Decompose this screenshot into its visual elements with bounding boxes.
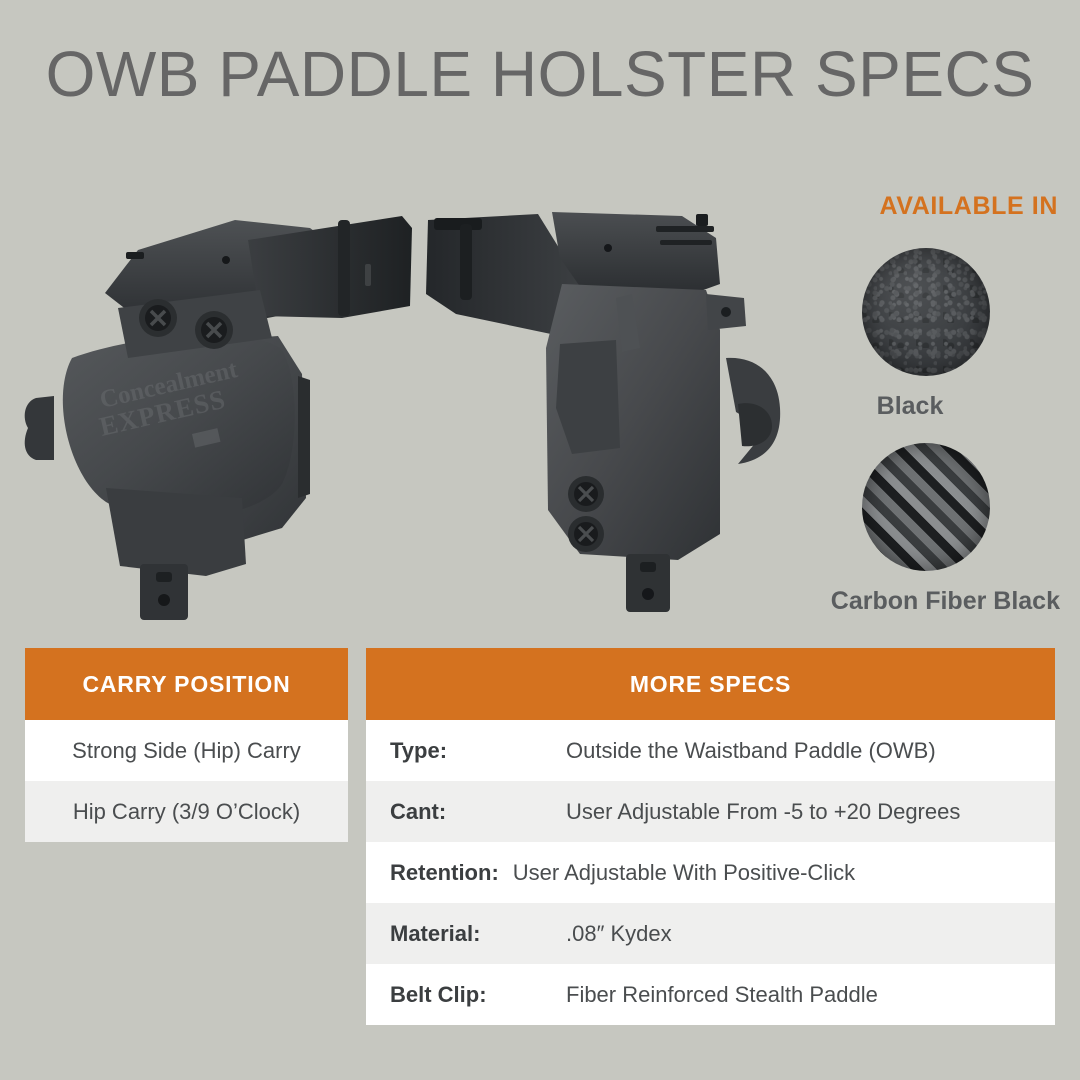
carry-position-value: Hip Carry (3/9 O’Clock)	[73, 799, 300, 825]
grip-backstrap	[460, 224, 472, 300]
carry-position-value: Strong Side (Hip) Carry	[72, 738, 301, 764]
clip-screw	[721, 307, 731, 317]
carbon-fiber-swatch-icon	[862, 443, 990, 571]
table-row: Retention: User Adjustable With Positive…	[366, 842, 1055, 903]
color-swatch-black[interactable]: Black	[760, 248, 1060, 421]
takedown-pin	[222, 256, 230, 264]
spec-key-material: Material:	[390, 921, 552, 947]
paddle-lip	[25, 396, 54, 460]
table-row: Hip Carry (3/9 O’Clock)	[25, 781, 348, 842]
black-swatch-label: Black	[760, 392, 1060, 421]
spec-value-retention: User Adjustable With Positive-Click	[513, 860, 855, 886]
color-swatch-carbon-fiber-black[interactable]: Carbon Fiber Black	[760, 443, 1060, 616]
grip-rail	[434, 218, 482, 230]
retention-screw-upper	[139, 299, 177, 337]
tongue-hole	[642, 588, 654, 600]
table-row: Belt Clip: Fiber Reinforced Stealth Padd…	[366, 964, 1055, 1025]
grip-backstrap	[338, 220, 350, 316]
table-row: Material: .08″ Kydex	[366, 903, 1055, 964]
available-in-heading: AVAILABLE IN	[760, 192, 1060, 221]
table-row: Cant: User Adjustable From -5 to +20 Deg…	[366, 781, 1055, 842]
holster-paddle-side-view: Concealment EXPRESS	[10, 198, 430, 628]
available-in-panel: AVAILABLE IN Black Carbon Fiber Black	[760, 192, 1060, 221]
slide-serration-a	[656, 226, 714, 232]
retention-screw-upper	[568, 476, 604, 512]
retention-screw-lower	[568, 516, 604, 552]
takedown-pin	[604, 244, 612, 252]
rear-sight	[126, 252, 144, 259]
spec-key-cant: Cant:	[390, 799, 552, 825]
spec-key-belt-clip: Belt Clip:	[390, 982, 552, 1008]
slide-serration-b	[660, 240, 712, 245]
table-row: Strong Side (Hip) Carry	[25, 720, 348, 781]
spec-key-retention: Retention:	[390, 860, 499, 886]
shell-edge	[298, 376, 310, 498]
spec-key-type: Type:	[390, 738, 552, 764]
product-photo-stage: Concealment EXPRESS	[0, 190, 800, 630]
carry-position-header: CARRY POSITION	[25, 648, 348, 720]
table-row: Type: Outside the Waistband Paddle (OWB)	[366, 720, 1055, 781]
spec-value-belt-clip: Fiber Reinforced Stealth Paddle	[566, 982, 878, 1008]
tongue-slot	[640, 562, 656, 572]
holster-paddle-side-illustration: Concealment EXPRESS	[10, 198, 430, 628]
spec-value-cant: User Adjustable From -5 to +20 Degrees	[566, 799, 960, 825]
stealth-paddle	[63, 335, 295, 518]
spec-value-type: Outside the Waistband Paddle (OWB)	[566, 738, 936, 764]
muzzle-shroud	[106, 488, 246, 576]
tongue-slot	[156, 572, 172, 582]
front-sight	[696, 214, 708, 226]
magazine-catch	[365, 264, 371, 286]
page-title: OWB PADDLE HOLSTER SPECS	[0, 42, 1080, 107]
tongue-hole	[158, 594, 170, 606]
retention-screw-lower	[195, 311, 233, 349]
spec-value-material: .08″ Kydex	[566, 921, 672, 947]
carbon-fiber-swatch-label: Carbon Fiber Black	[760, 587, 1060, 616]
black-swatch-icon	[862, 248, 990, 376]
carry-position-table: CARRY POSITION Strong Side (Hip) Carry H…	[25, 648, 348, 842]
more-specs-header: MORE SPECS	[366, 648, 1055, 720]
more-specs-table: MORE SPECS Type: Outside the Waistband P…	[366, 648, 1055, 1025]
